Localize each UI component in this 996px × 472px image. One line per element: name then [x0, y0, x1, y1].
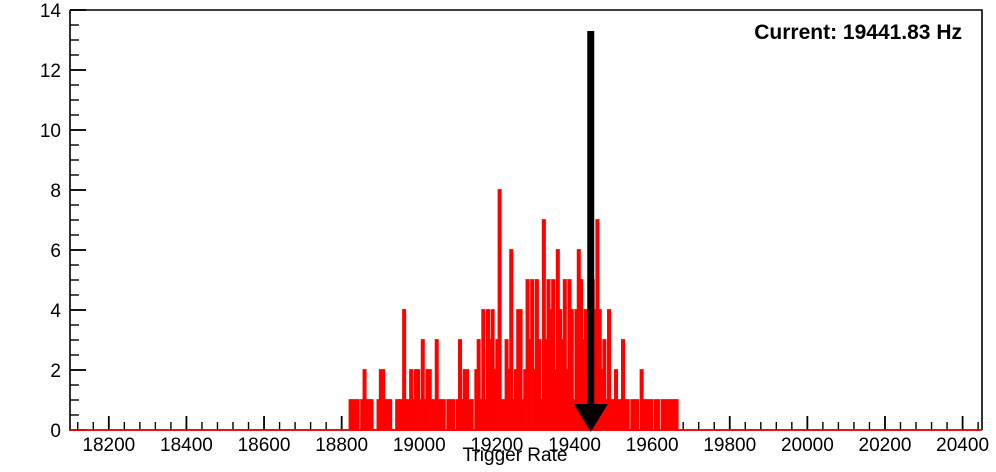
histogram-bin	[494, 370, 496, 430]
x-tick-label: 18200	[82, 435, 135, 456]
current-rate-label: Current: 19441.83 Hz	[754, 21, 962, 44]
histogram-bin	[512, 400, 514, 430]
histogram-bin	[503, 400, 505, 430]
root-canvas: 02468101214 1820018400186001880019000192…	[0, 0, 996, 472]
histogram-bin	[438, 400, 440, 430]
histogram-bin	[624, 400, 626, 430]
histogram-bin	[401, 400, 403, 430]
histogram-bin	[671, 400, 673, 430]
x-tick-label: 18600	[238, 435, 291, 456]
histogram-bin	[550, 310, 552, 430]
x-tick-label: 18800	[315, 435, 368, 456]
x-tick-label: 20200	[859, 435, 912, 456]
histogram-bin	[419, 400, 421, 430]
histogram-bin	[620, 400, 622, 430]
histogram-bin	[545, 340, 547, 430]
histogram-bin	[643, 400, 645, 430]
histogram-bin	[668, 400, 670, 430]
histogram-bin	[366, 400, 368, 430]
histogram-bin	[354, 400, 356, 430]
histogram-bin	[480, 400, 482, 430]
x-axis-title: Trigger Rate	[463, 445, 568, 466]
y-tick-label: 6	[50, 241, 61, 262]
x-tick-label: 20000	[781, 435, 834, 456]
histogram-bin	[647, 400, 649, 430]
histogram-plot: 02468101214 1820018400186001880019000192…	[0, 0, 996, 472]
y-tick-label: 8	[50, 181, 61, 202]
histogram-bin	[617, 400, 619, 430]
histogram-bin	[405, 400, 407, 430]
histogram-bin	[633, 400, 635, 430]
x-tick-label: 20400	[936, 435, 989, 456]
x-tick-label: 19600	[626, 435, 679, 456]
histogram-bin	[384, 400, 386, 430]
histogram-bin	[610, 400, 612, 430]
histogram-bin	[387, 400, 389, 430]
x-tick-label: 18400	[160, 435, 213, 456]
y-tick-label: 14	[40, 1, 62, 22]
y-tick-label: 10	[40, 121, 61, 142]
histogram-bin	[664, 400, 666, 430]
histogram-bin	[468, 400, 470, 430]
histogram-bin	[522, 400, 524, 430]
histogram-bin	[666, 400, 668, 430]
histogram-bin	[461, 400, 463, 430]
histogram-bin	[440, 400, 442, 430]
histogram-bin	[412, 400, 414, 430]
histogram-bin	[398, 400, 400, 430]
y-tick-label: 0	[50, 421, 61, 442]
histogram-bin	[533, 370, 535, 430]
histogram-bin	[484, 400, 486, 430]
histogram-bin	[508, 370, 510, 430]
histogram-bin	[529, 340, 531, 430]
histogram-bin	[424, 400, 426, 430]
histogram-bin	[450, 400, 452, 430]
y-tick-label: 2	[50, 361, 61, 382]
histogram-bin	[408, 400, 410, 430]
histogram-bin	[431, 400, 433, 430]
histogram-bin	[645, 400, 647, 430]
x-tick-label: 19000	[393, 435, 446, 456]
histogram-bin	[673, 400, 675, 430]
histogram-bin	[540, 400, 542, 430]
y-tick-label: 12	[40, 61, 61, 82]
histogram-bin	[433, 400, 435, 430]
x-tick-label: 19800	[703, 435, 756, 456]
histogram-bin	[566, 370, 568, 430]
histogram-bin	[613, 400, 615, 430]
histogram-bin	[601, 370, 603, 430]
histogram-bin	[489, 340, 491, 430]
histogram-bin	[352, 400, 354, 430]
histogram-bin	[561, 340, 563, 430]
histogram-bin	[554, 370, 556, 430]
histogram-bin	[501, 400, 503, 430]
y-tick-label: 4	[50, 301, 61, 322]
histogram-bin	[368, 400, 370, 430]
